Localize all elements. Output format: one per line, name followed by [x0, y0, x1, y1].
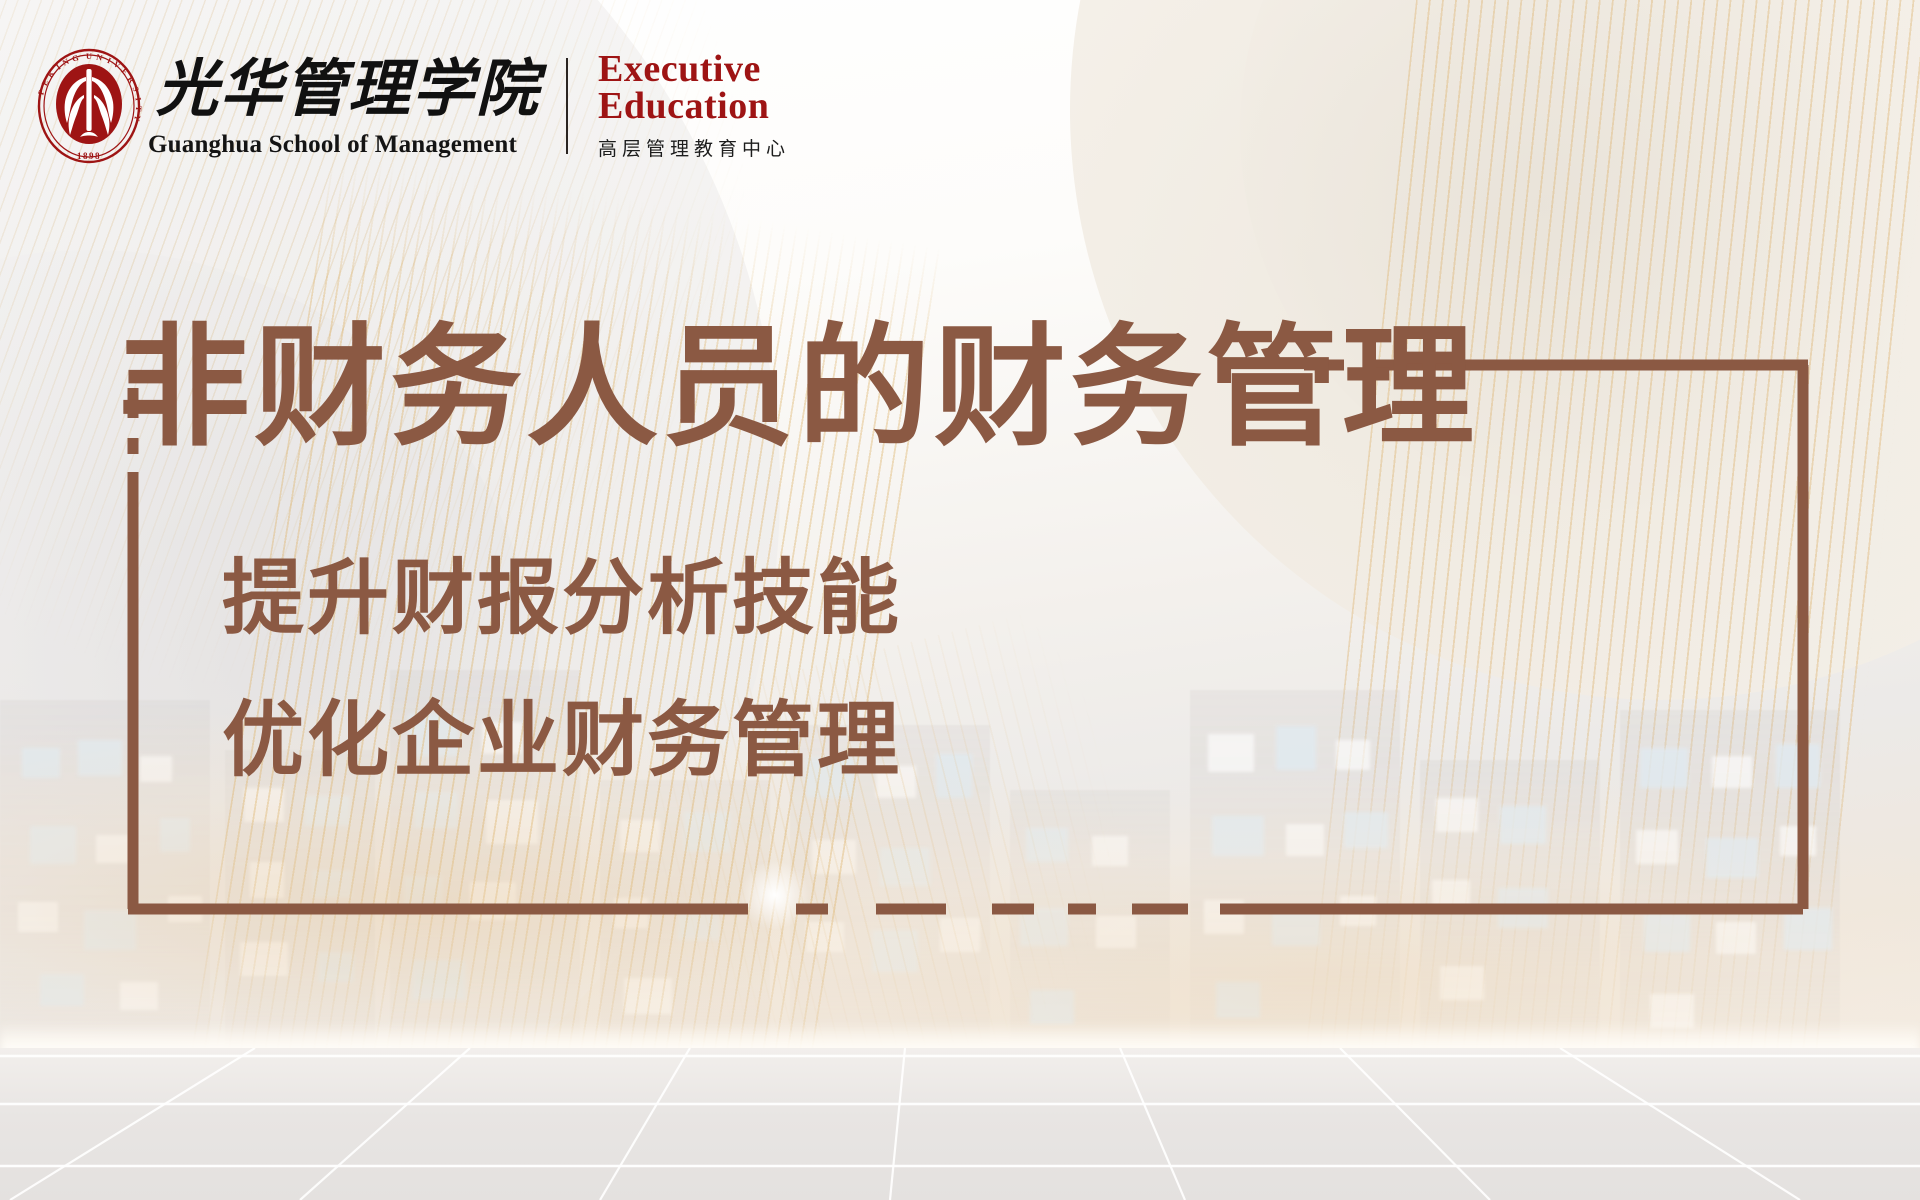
svg-text:I: I [54, 62, 62, 71]
page-title: 非财务人员的财务管理 [118, 322, 1478, 454]
svg-text:I: I [106, 56, 113, 66]
school-name-en: Guanghua School of Management [148, 131, 540, 159]
svg-text:S: S [131, 85, 141, 93]
bg-flare-1 [640, 1040, 760, 1160]
svg-text:G: G [71, 53, 80, 64]
svg-text:1898: 1898 [77, 151, 101, 161]
executive-education-cn: 高层管理教育中心 [598, 134, 790, 161]
executive-education-line1: Executive [598, 51, 790, 88]
bg-perspective-floor [0, 1048, 1920, 1200]
poster-canvas: P E K I N G U N I V E R S I T Y 1898 光华管… [0, 0, 1920, 1200]
svg-text:T: T [134, 106, 142, 112]
svg-text:Y: Y [132, 114, 142, 122]
decorative-frame [128, 410, 1808, 915]
subtitle-line-2: 优化企业财务管理 [222, 700, 902, 782]
brand-logo-lockup: P E K I N G U N I V E R S I T Y 1898 光华管… [36, 46, 790, 166]
svg-text:N: N [95, 53, 103, 63]
svg-text:I: I [133, 97, 142, 101]
svg-text:U: U [86, 52, 92, 61]
executive-education-line2: Education [598, 88, 790, 125]
school-name-block: 光华管理学院 Guanghua School of Management [148, 53, 540, 159]
svg-text:P: P [36, 89, 46, 96]
svg-text:N: N [61, 57, 71, 68]
subtitle-line-1: 提升财报分析技能 [222, 558, 902, 640]
peking-university-seal-icon: P E K I N G U N I V E R S I T Y 1898 [36, 47, 142, 165]
bg-horizon-glow [0, 1022, 1920, 1062]
executive-education-block: Executive Education 高层管理教育中心 [598, 51, 790, 161]
school-name-cn: 光华管理学院 [156, 53, 540, 127]
bg-flare-3 [280, 1140, 390, 1200]
bg-flare-2 [1040, 1090, 1130, 1180]
logo-divider [566, 58, 568, 154]
